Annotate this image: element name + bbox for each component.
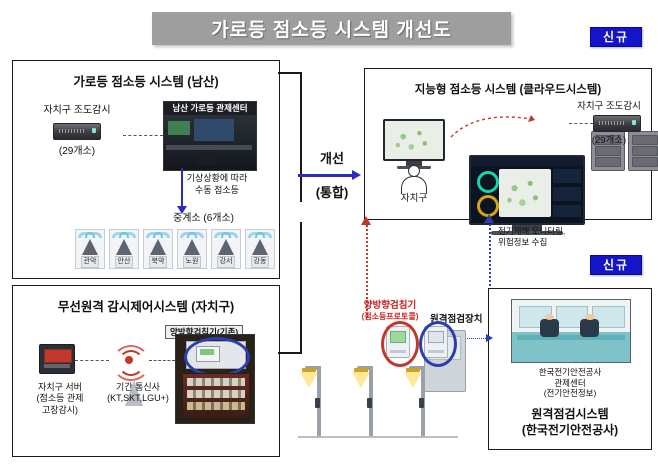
carrier-label: 기간 통신사 (KT,SKT,LGU+) (95, 382, 181, 405)
signal-wave-icon (146, 232, 170, 238)
photo-caption: 남산 가로등 관제센터 (164, 102, 256, 115)
relay-tower-label: 노원 (183, 256, 202, 268)
illuminance-sensor-label: 자치구 조도감시 (31, 105, 123, 118)
illuminance-sensor-icon (53, 123, 101, 140)
carrier-label-line1: 기간 통신사 (95, 382, 181, 393)
rack-unit (632, 146, 658, 156)
panel-title: 가로등 점소등 시스템 (남산) (13, 71, 279, 90)
badge-label: 신규 (590, 255, 642, 275)
kesco-caption-line1: 한국전기안전공사 (495, 367, 645, 378)
breaker-row (187, 390, 245, 398)
rack-unit (632, 157, 658, 167)
tower-mast-icon (184, 239, 200, 255)
bracket-top (278, 72, 302, 74)
office-head-right (585, 314, 594, 320)
operator-avatar (401, 165, 425, 193)
person-body (401, 176, 427, 194)
meter-highlight-circle (184, 337, 250, 377)
lamp-glow (404, 372, 422, 388)
streetlamp (302, 358, 336, 436)
kesco-caption-line3: (전기안전정보) (495, 388, 645, 399)
device-to-panel-arrowhead (486, 334, 493, 342)
monitoring-flow-line1: 전기재해 모니터링, (498, 226, 606, 237)
map-graphic (387, 123, 441, 157)
office-person-right (580, 319, 599, 338)
signal-wave-icon (112, 232, 136, 238)
cloud-dashboard-display (469, 155, 585, 235)
tower-mast-icon (82, 239, 98, 255)
cloud-sensor-count: (29개소) (571, 135, 647, 147)
relay-tower: 노원 (177, 229, 207, 269)
cloud-sensor-label: 자치구 조도감시 (571, 101, 647, 113)
lamp-control-box (367, 398, 372, 408)
carrier-label-line2: (KT,SKT,LGU+) (95, 393, 181, 404)
lamp-control-box (419, 398, 424, 408)
relay-tower: 관악 (75, 229, 105, 269)
manual-control-arrow-shaft (181, 168, 183, 208)
wireless-signal-icon (109, 344, 149, 376)
office-person-left (540, 319, 559, 338)
panel-title: 무선원격 감시제어시스템 (자치구) (13, 296, 279, 315)
panel-intelligent-cloud-system: 지능형 점소등 시스템 (클라우드시스템) 자치구 (364, 68, 652, 220)
page-title: 가로등 점소등 시스템 개선도 (211, 15, 452, 42)
remote-device-highlight-circle-blue (419, 321, 457, 367)
signal-wave-icon (180, 232, 204, 238)
inspection-to-cloud-arrowhead (484, 214, 494, 223)
district-server-label: 자치구 서버 (점소등 관제 고장감시) (21, 382, 99, 416)
dotted-curve-icon (449, 113, 535, 139)
photo-desk (166, 145, 252, 150)
illuminance-sensor-group: 자치구 조도감시 (29개소) (31, 105, 123, 158)
person-icon (401, 165, 425, 193)
lamp-glow (352, 372, 370, 388)
inspection-to-cloud-flow (489, 220, 493, 286)
page-title-banner: 가로등 점소등 시스템 개선도 (152, 12, 511, 45)
panel-title: 지능형 점소등 시스템 (클라우드시스템) (365, 81, 651, 97)
transition-arrow-shaft (298, 174, 356, 177)
signal-wave-icon (214, 232, 238, 238)
relay-tower-label: 강서 (217, 256, 236, 268)
manual-control-note-line1: 기상상황에 따라 (161, 173, 273, 185)
meter-highlight-circle-red (381, 321, 419, 367)
wireless-link-right (149, 360, 175, 361)
sensor-to-cloud-connector (569, 123, 593, 124)
relay-tower-label: 관악 (81, 256, 100, 268)
monitor-map (385, 121, 443, 159)
wireless-link-left (75, 360, 109, 361)
relay-tower-label: 북악 (149, 256, 168, 268)
signal-ring-2 (112, 345, 150, 381)
photo-body (164, 115, 256, 170)
control-cabinet-photo (175, 334, 255, 424)
badge-label: 신규 (590, 27, 642, 47)
photo-videowall (194, 119, 234, 141)
ground-line (298, 436, 458, 438)
panel-streetlight-namsan: 가로등 점소등 시스템 (남산) 자치구 조도감시 (29개소) 남산 가로등 … (12, 60, 280, 279)
relay-tower: 안산 (109, 229, 139, 269)
breaker-row (187, 378, 245, 386)
streetlamp (354, 358, 388, 436)
transition-label-bottom: (통합) (296, 182, 368, 201)
manual-control-note-line2: 수동 점소등 (161, 185, 273, 197)
relay-station-list: 관악 안산 북악 노원 강서 강동 (75, 229, 275, 269)
bidirectional-meter-label: 양방향검침기 (352, 300, 428, 311)
sensor-device (593, 115, 641, 132)
sensor-to-center-connector (123, 135, 163, 136)
server-front-panel (44, 349, 72, 363)
district-server-label-line2: (점소등 관제 (21, 393, 99, 404)
lamp-glow (300, 372, 318, 388)
manual-control-note: 기상상황에 따라 수동 점소등 (161, 173, 273, 196)
district-operator-label: 자치구 (379, 193, 449, 205)
operator-to-cloud-link (449, 113, 535, 139)
panel-remote-inspection-system: 한국전기안전공사 관제센터 (전기안전정보) 원격점검시스템 (한국전기안전공사… (488, 288, 652, 450)
status-badge-new-inspection: 신규 (590, 256, 642, 274)
gauge-ring-green (477, 171, 499, 193)
illuminance-sensor-count: (29개소) (31, 146, 123, 159)
meter-to-cloud-arrowhead (361, 216, 371, 225)
tower-mast-icon (116, 239, 132, 255)
district-operator-monitor (383, 119, 445, 169)
transition-label-top: 개선 (296, 148, 368, 167)
namsan-control-center-photo: 남산 가로등 관제센터 (163, 101, 257, 171)
signal-wave-icon (78, 232, 102, 238)
bracket-vertical-bottom (300, 222, 302, 353)
signal-wave-icon (248, 232, 272, 238)
status-badge-new-cloud: 신규 (590, 28, 642, 46)
monitoring-flow-line2: 위험정보 수집 (498, 237, 606, 248)
tower-mast-icon (218, 239, 234, 255)
tower-mast-icon (150, 239, 166, 255)
panel-wireless-remote-control: 무선원격 감시제어시스템 (자치구) 양방향검침기(기존) 자치구 서버 (점소… (12, 285, 280, 457)
rack-unit (595, 157, 621, 167)
bracket-bottom (278, 352, 302, 354)
dashboard-side-panel (553, 169, 581, 183)
monitoring-flow-label: 전기재해 모니터링, 위험정보 수집 (498, 226, 606, 248)
relay-tower: 강서 (211, 229, 241, 269)
cabinet-breaker-area (182, 373, 250, 419)
relay-tower: 강동 (245, 229, 275, 269)
office-illustration (512, 300, 630, 362)
panel-title-line1: 원격점검시스템 (495, 407, 645, 422)
office-desk (517, 335, 626, 340)
dashboard-header-bar (471, 157, 583, 166)
cloud-sensor-icon (593, 115, 641, 132)
district-server-icon (39, 344, 75, 374)
dashboard-side-panel (553, 205, 581, 217)
bidirectional-meter-protocol: (점소등프로토콜) (348, 312, 432, 322)
photo-screen-left (168, 121, 190, 135)
lamp-control-box (315, 398, 320, 408)
breaker-row (187, 402, 245, 410)
relay-station-title: 중계소 (6개소) (173, 213, 273, 226)
dashboard-side-panel (553, 187, 581, 201)
transition-arrow-head (352, 170, 361, 180)
district-server-label-line3: 고장감시) (21, 405, 99, 416)
rack-unit (595, 146, 621, 156)
dashboard-map (499, 169, 551, 217)
relay-tower-label: 안산 (115, 256, 134, 268)
tower-mast-icon (252, 239, 268, 255)
kesco-center-caption: 한국전기안전공사 관제센터 (전기안전정보) (495, 367, 645, 399)
server-slot (44, 364, 70, 368)
relay-tower: 북악 (143, 229, 173, 269)
relay-tower-label: 강동 (251, 256, 270, 268)
monitor-screen (383, 119, 445, 161)
panel-title-line2: (한국전기안전공사) (495, 423, 645, 438)
kesco-caption-line2: 관제센터 (495, 378, 645, 389)
kesco-control-center-photo (511, 299, 631, 363)
district-server-label-line1: 자치구 서버 (21, 382, 99, 393)
streetlamp-group (302, 358, 440, 436)
